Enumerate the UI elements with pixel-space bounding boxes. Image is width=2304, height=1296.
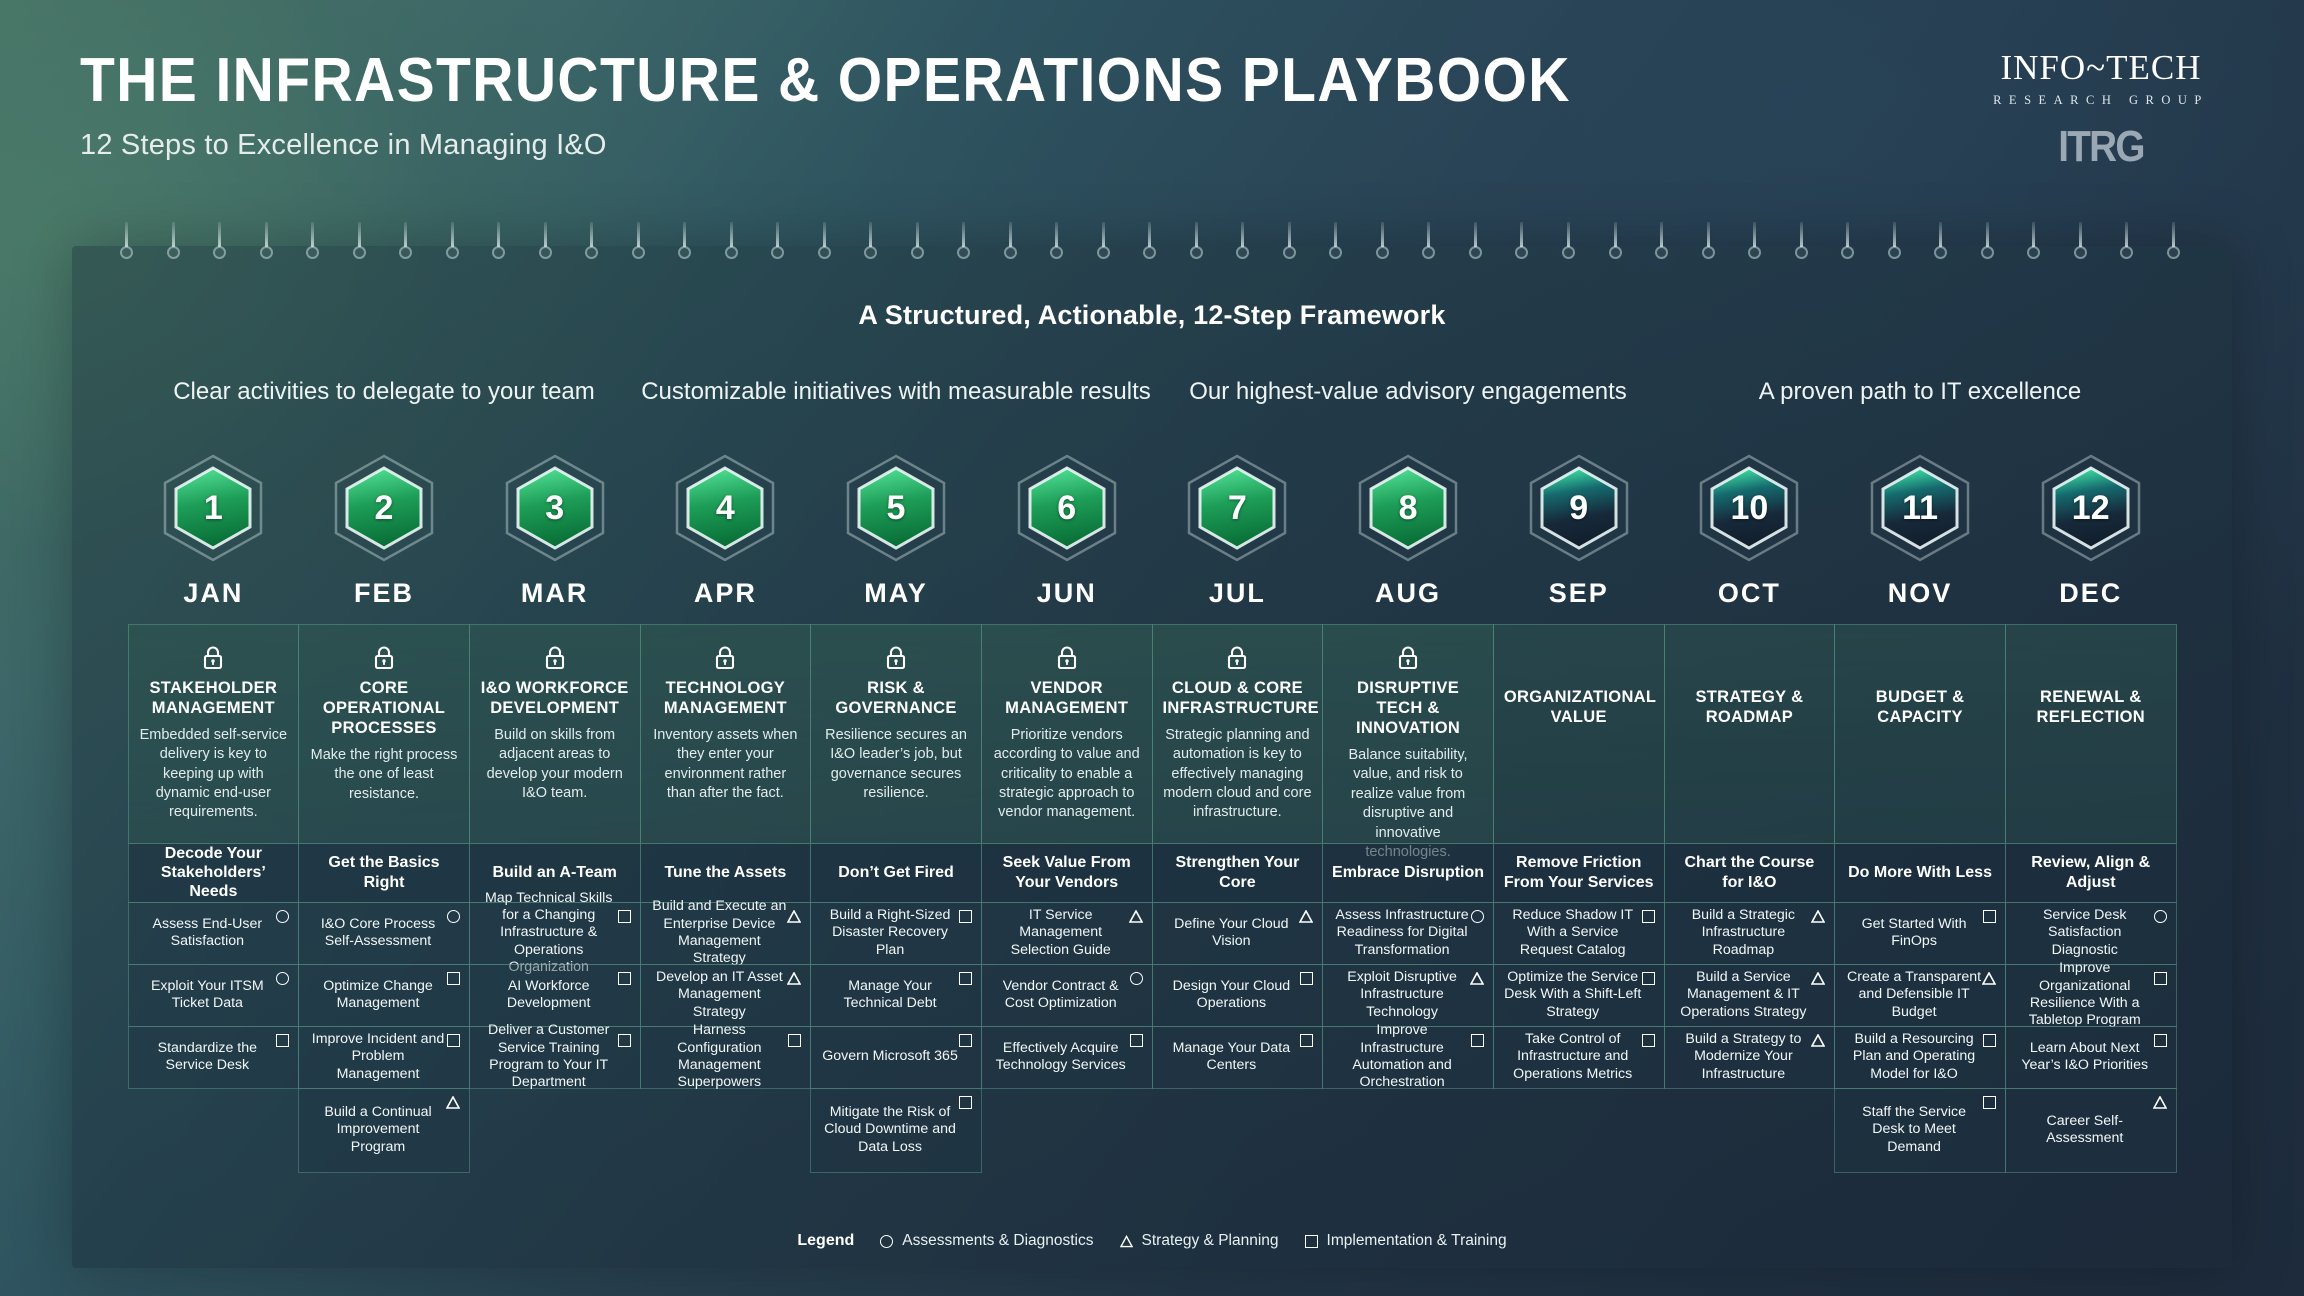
marker-square-icon — [276, 1034, 289, 1047]
month-step-nov[interactable]: 11NOV — [1835, 452, 2006, 609]
column-description: Build on skills from adjacent areas to d… — [480, 726, 630, 804]
column-title: CORE OPERATIONAL PROCESSES — [309, 678, 459, 738]
marker-square-icon — [1642, 910, 1655, 923]
column-title: BUDGET & CAPACITY — [1845, 687, 1995, 727]
playbook-item[interactable]: Govern Microsoft 365 — [810, 1026, 982, 1089]
lock-icon — [1226, 645, 1248, 670]
category-caption-1: Clear activities to delegate to your tea… — [128, 378, 640, 406]
binding-ring — [1329, 222, 1342, 270]
playbook-item-label: Optimize the Service Desk With a Shift-L… — [1504, 969, 1642, 1021]
playbook-item-label: Define Your Cloud Vision — [1163, 916, 1301, 951]
binding-ring — [1236, 222, 1249, 270]
playbook-item[interactable]: Improve Incident and Problem Management — [298, 1026, 470, 1089]
playbook-item[interactable]: Build a Right-Sized Disaster Recovery Pl… — [810, 902, 982, 965]
marker-square-icon — [1983, 1034, 1996, 1047]
step-number: 9 — [1523, 452, 1635, 564]
binding-ring — [539, 222, 552, 270]
grid-cell-empty — [1152, 1088, 1324, 1173]
binding-ring — [1609, 222, 1622, 270]
column-title: I&O WORKFORCE DEVELOPMENT — [480, 678, 630, 718]
playbook-item-label: IT Service Management Selection Guide — [992, 907, 1130, 959]
playbook-item[interactable]: Get Started With FinOps — [1834, 902, 2006, 965]
binding-ring — [1050, 222, 1063, 270]
spiral-binding — [120, 222, 2180, 270]
playbook-item-label: Manage Your Technical Debt — [821, 978, 959, 1013]
legend-item-label: Strategy & Planning — [1142, 1232, 1279, 1250]
playbook-item[interactable]: Harness Configuration Management Superpo… — [640, 1026, 812, 1089]
month-step-jun[interactable]: 6JUN — [981, 452, 1152, 609]
month-hex-row: 1JAN2FEB3MAR4APR5MAY6JUN7JUL8AUG9SEP10OC… — [128, 452, 2176, 609]
framework-heading: A Structured, Actionable, 12-Step Framew… — [0, 300, 2304, 331]
column-subtitle-text: Remove Friction From Your Services — [1502, 853, 1656, 891]
marker-triangle-icon — [1129, 910, 1143, 922]
column-subtitle-text: Review, Align & Adjust — [2014, 853, 2168, 891]
binding-ring — [678, 222, 691, 270]
hexagon-icon: 9 — [1523, 452, 1635, 564]
binding-ring — [585, 222, 598, 270]
column-title: STRATEGY & ROADMAP — [1675, 687, 1825, 727]
month-step-feb[interactable]: 2FEB — [299, 452, 470, 609]
marker-square-icon — [2154, 1034, 2167, 1047]
playbook-item[interactable]: Manage Your Technical Debt — [810, 964, 982, 1027]
column-description: Prioritize vendors according to value an… — [992, 726, 1142, 823]
playbook-item-label: Create a Transparent and Defensible IT B… — [1845, 969, 1983, 1021]
playbook-item[interactable]: Map Technical Skills for a Changing Infr… — [469, 902, 641, 965]
playbook-item[interactable]: AI Workforce Development — [469, 964, 641, 1027]
playbook-item[interactable]: Build a Strategic Infrastructure Roadmap — [1664, 902, 1836, 965]
playbook-item-label: AI Workforce Development — [480, 978, 618, 1013]
legend-item-square: Implementation & Training — [1305, 1232, 1507, 1250]
lock-icon — [885, 645, 907, 670]
column-title: STAKEHOLDER MANAGEMENT — [139, 678, 289, 718]
playbook-item-label: Reduce Shadow IT With a Service Request … — [1504, 907, 1642, 959]
playbook-item[interactable]: Take Control of Infrastructure and Opera… — [1493, 1026, 1665, 1089]
column-header-11: BUDGET & CAPACITY — [1834, 624, 2006, 844]
column-subtitle-text: Chart the Course for I&O — [1673, 853, 1827, 891]
hexagon-icon: 1 — [157, 452, 269, 564]
grid-row-items-2: Exploit Your ITSM Ticket DataOptimize Ch… — [128, 964, 2176, 1026]
playbook-item[interactable]: IT Service Management Selection Guide — [981, 902, 1153, 965]
column-subtitle-10: Chart the Course for I&O — [1664, 843, 1836, 903]
column-header-1: STAKEHOLDER MANAGEMENTEmbedded self-serv… — [128, 624, 300, 844]
marker-square-icon — [1300, 972, 1313, 985]
logo-itrg-mark: ITRG — [1991, 122, 2211, 172]
playbook-item-label: Build a Service Management & IT Operatio… — [1675, 969, 1813, 1021]
playbook-item[interactable]: Effectively Acquire Technology Services — [981, 1026, 1153, 1089]
grid-row-items-3: Standardize the Service DeskImprove Inci… — [128, 1026, 2176, 1088]
column-description: Resilience secures an I&O leader’s job, … — [821, 726, 971, 804]
playbook-item[interactable]: Optimize the Service Desk With a Shift-L… — [1493, 964, 1665, 1027]
column-subtitle-7: Strengthen Your Core — [1152, 843, 1324, 903]
step-number: 4 — [669, 452, 781, 564]
binding-ring — [306, 222, 319, 270]
playbook-item-label: Build a Right-Sized Disaster Recovery Pl… — [821, 907, 959, 959]
logo-wordmark: INFO~TECH — [1976, 48, 2226, 88]
playbook-item[interactable]: Define Your Cloud Vision — [1152, 902, 1324, 965]
column-subtitle-6: Seek Value From Your Vendors — [981, 843, 1153, 903]
month-step-jan[interactable]: 1JAN — [128, 452, 299, 609]
grid-cell-empty — [640, 1088, 812, 1173]
column-header-2: CORE OPERATIONAL PROCESSESMake the right… — [298, 624, 470, 844]
grid-cell-empty — [981, 1088, 1153, 1173]
month-step-jul[interactable]: 7JUL — [1152, 452, 1323, 609]
playbook-item[interactable]: Improve Organizational Resilience With a… — [2005, 964, 2177, 1027]
playbook-item[interactable]: Manage Your Data Centers — [1152, 1026, 1324, 1089]
page-subtitle: 12 Steps to Excellence in Managing I&O — [80, 129, 1700, 162]
binding-ring — [1469, 222, 1482, 270]
column-subtitle-5: Don’t Get Fired — [810, 843, 982, 903]
lock-icon — [202, 645, 224, 670]
month-step-aug[interactable]: 8AUG — [1323, 452, 1494, 609]
playbook-item-label: Improve Organizational Resilience With a… — [2016, 960, 2154, 1029]
column-header-9: ORGANIZATIONAL VALUE — [1493, 624, 1665, 844]
category-caption-2: Customizable initiatives with measurable… — [640, 378, 1152, 406]
month-label: JUN — [981, 578, 1152, 609]
column-subtitle-8: Embrace Disruption — [1322, 843, 1494, 903]
logo-tagline: RESEARCH GROUP — [1976, 93, 2226, 108]
binding-ring — [1190, 222, 1203, 270]
playbook-item-label: Mitigate the Risk of Cloud Downtime and … — [821, 1104, 959, 1156]
binding-ring — [1748, 222, 1761, 270]
playbook-item[interactable]: Build a Strategy to Modernize Your Infra… — [1664, 1026, 1836, 1089]
column-header-3: I&O WORKFORCE DEVELOPMENTBuild on skills… — [469, 624, 641, 844]
binding-ring — [1934, 222, 1947, 270]
column-description: Embedded self-service delivery is key to… — [139, 726, 289, 823]
marker-square-icon — [1130, 1034, 1143, 1047]
binding-ring — [725, 222, 738, 270]
playbook-item[interactable]: Career Self-Assessment — [2005, 1088, 2177, 1173]
playbook-item[interactable]: Improve Infrastructure Automation and Or… — [1322, 1026, 1494, 1089]
column-subtitle-text: Build an A-Team — [492, 863, 616, 882]
binding-ring — [1795, 222, 1808, 270]
legend-label: Legend — [797, 1232, 854, 1250]
month-step-dec[interactable]: 12DEC — [2005, 452, 2176, 609]
column-subtitle-text: Strengthen Your Core — [1161, 853, 1315, 891]
column-subtitle-4: Tune the Assets — [640, 843, 812, 903]
step-number: 10 — [1693, 452, 1805, 564]
playbook-item[interactable]: Staff the Service Desk to Meet Demand — [1834, 1088, 2006, 1173]
playbook-item-label: Standardize the Service Desk — [139, 1040, 277, 1075]
grid-cell-empty — [1322, 1088, 1494, 1173]
category-caption-4: A proven path to IT excellence — [1664, 378, 2176, 406]
lock-icon — [373, 645, 395, 670]
playbook-item[interactable]: Create a Transparent and Defensible IT B… — [1834, 964, 2006, 1027]
binding-ring — [446, 222, 459, 270]
marker-square-icon — [618, 972, 631, 985]
column-subtitle-2: Get the Basics Right — [298, 843, 470, 903]
column-subtitle-9: Remove Friction From Your Services — [1493, 843, 1665, 903]
playbook-item-label: Build a Strategy to Modernize Your Infra… — [1675, 1031, 1813, 1083]
binding-ring — [1655, 222, 1668, 270]
marker-square-icon — [788, 1034, 801, 1047]
column-subtitle-text: Embrace Disruption — [1332, 863, 1484, 882]
marker-square-icon — [1642, 1034, 1655, 1047]
month-step-mar[interactable]: 3MAR — [469, 452, 640, 609]
column-subtitle-text: Seek Value From Your Vendors — [990, 853, 1144, 891]
marker-square-icon — [959, 1034, 972, 1047]
playbook-item-label: Get Started With FinOps — [1845, 916, 1983, 951]
column-title: RISK & GOVERNANCE — [821, 678, 971, 718]
binding-ring — [492, 222, 505, 270]
step-number: 12 — [2035, 452, 2147, 564]
column-subtitle-text: Do More With Less — [1848, 863, 1992, 882]
step-number: 6 — [1011, 452, 1123, 564]
playbook-item-label: Manage Your Data Centers — [1163, 1040, 1301, 1075]
month-label: FEB — [299, 578, 470, 609]
binding-ring — [911, 222, 924, 270]
marker-square-icon — [618, 1034, 631, 1047]
marker-triangle-icon — [1982, 972, 1996, 984]
playbook-item[interactable]: Optimize Change Management — [298, 964, 470, 1027]
playbook-item[interactable]: Service Desk Satisfaction Diagnostic — [2005, 902, 2177, 965]
month-label: MAR — [469, 578, 640, 609]
grid-row-items-4: Build a Continual Improvement ProgramMit… — [128, 1088, 2176, 1172]
binding-ring — [957, 222, 970, 270]
column-header-8: DISRUPTIVE TECH & INNOVATIONBalance suit… — [1322, 624, 1494, 844]
marker-circle-icon — [1130, 972, 1143, 985]
playbook-item[interactable]: Develop an IT Asset Management Strategy — [640, 964, 812, 1027]
marker-triangle-icon — [2153, 1096, 2167, 1108]
binding-ring — [771, 222, 784, 270]
binding-ring — [2120, 222, 2133, 270]
hexagon-icon: 8 — [1352, 452, 1464, 564]
column-title: ORGANIZATIONAL VALUE — [1504, 687, 1654, 727]
playbook-item-label: Assess End-User Satisfaction — [139, 916, 277, 951]
marker-square-icon — [959, 910, 972, 923]
legend-item-triangle: Strategy & Planning — [1120, 1232, 1279, 1250]
step-number: 7 — [1181, 452, 1293, 564]
playbook-item-label: Exploit Your ITSM Ticket Data — [139, 978, 277, 1013]
month-label: JAN — [128, 578, 299, 609]
playbook-item-label: I&O Core Process Self-Assessment — [309, 916, 447, 951]
step-number: 3 — [499, 452, 611, 564]
column-header-7: CLOUD & CORE INFRASTRUCTUREStrategic pla… — [1152, 624, 1324, 844]
hexagon-icon: 5 — [840, 452, 952, 564]
playbook-grid: STAKEHOLDER MANAGEMENTEmbedded self-serv… — [128, 624, 2176, 1172]
binding-ring — [2027, 222, 2040, 270]
marker-square-icon — [1642, 972, 1655, 985]
playbook-item-label: Service Desk Satisfaction Diagnostic — [2016, 907, 2154, 959]
playbook-item-label: Govern Microsoft 365 — [822, 1048, 958, 1065]
playbook-item-label: Develop an IT Asset Management Strategy — [651, 969, 789, 1021]
month-label: AUG — [1323, 578, 1494, 609]
binding-ring — [1143, 222, 1156, 270]
category-caption-row: Clear activities to delegate to your tea… — [128, 378, 2176, 406]
lock-icon — [544, 645, 566, 670]
column-subtitle-text: Get the Basics Right — [307, 853, 461, 891]
playbook-item[interactable]: Exploit Disruptive Infrastructure Techno… — [1322, 964, 1494, 1027]
marker-circle-icon — [276, 972, 289, 985]
column-subtitle-1: Decode Your Stakeholders’ Needs — [128, 843, 300, 903]
column-header-10: STRATEGY & ROADMAP — [1664, 624, 1836, 844]
grid-cell-empty — [128, 1088, 300, 1173]
month-step-apr[interactable]: 4APR — [640, 452, 811, 609]
playbook-item[interactable]: Build a Continual Improvement Program — [298, 1088, 470, 1173]
playbook-item-label: Optimize Change Management — [309, 978, 447, 1013]
binding-ring — [260, 222, 273, 270]
grid-row-subtitles: Decode Your Stakeholders’ NeedsGet the B… — [128, 843, 2176, 902]
marker-circle-icon — [276, 910, 289, 923]
legend: Legend Assessments & DiagnosticsStrategy… — [0, 1232, 2304, 1250]
playbook-item-label: Improve Infrastructure Automation and Or… — [1333, 1022, 1471, 1091]
playbook-item-label: Build a Strategic Infrastructure Roadmap — [1675, 907, 1813, 959]
month-step-oct[interactable]: 10OCT — [1664, 452, 1835, 609]
marker-triangle-icon — [1811, 1034, 1825, 1046]
legend-triangle-icon — [1120, 1235, 1133, 1248]
grid-row-items-1: Assess End-User SatisfactionI&O Core Pro… — [128, 902, 2176, 964]
legend-item-label: Implementation & Training — [1327, 1232, 1507, 1250]
lock-icon — [714, 645, 736, 670]
hexagon-icon: 3 — [499, 452, 611, 564]
playbook-item[interactable]: Build a Service Management & IT Operatio… — [1664, 964, 1836, 1027]
playbook-item-label: Staff the Service Desk to Meet Demand — [1845, 1104, 1983, 1156]
marker-square-icon — [447, 1034, 460, 1047]
column-title: CLOUD & CORE INFRASTRUCTURE — [1163, 678, 1313, 718]
marker-square-icon — [2154, 972, 2167, 985]
hexagon-icon: 11 — [1864, 452, 1976, 564]
legend-item-label: Assessments & Diagnostics — [902, 1232, 1093, 1250]
playbook-item-label: Build a Resourcing Plan and Operating Mo… — [1845, 1031, 1983, 1083]
column-title: DISRUPTIVE TECH & INNOVATION — [1333, 678, 1483, 738]
binding-ring — [167, 222, 180, 270]
marker-square-icon — [1983, 1096, 1996, 1109]
brand-logo: INFO~TECH RESEARCH GROUP ITRG — [1976, 48, 2226, 172]
step-number: 5 — [840, 452, 952, 564]
column-description: Make the right process the one of least … — [309, 746, 459, 804]
playbook-item-label: Build and Execute an Enterprise Device M… — [651, 898, 789, 967]
playbook-item[interactable]: Exploit Your ITSM Ticket Data — [128, 964, 300, 1027]
playbook-item[interactable]: Assess End-User Satisfaction — [128, 902, 300, 965]
playbook-item[interactable]: Mitigate the Risk of Cloud Downtime and … — [810, 1088, 982, 1173]
legend-circle-icon — [880, 1235, 893, 1248]
binding-ring — [399, 222, 412, 270]
playbook-item[interactable]: Reduce Shadow IT With a Service Request … — [1493, 902, 1665, 965]
playbook-item[interactable]: Build a Resourcing Plan and Operating Mo… — [1834, 1026, 2006, 1089]
binding-ring — [1422, 222, 1435, 270]
binding-ring — [818, 222, 831, 270]
month-label: NOV — [1835, 578, 2006, 609]
column-header-12: RENEWAL & REFLECTION — [2005, 624, 2177, 844]
playbook-item-label: Effectively Acquire Technology Services — [992, 1040, 1130, 1075]
playbook-item-label: Design Your Cloud Operations — [1163, 978, 1301, 1013]
step-number: 2 — [328, 452, 440, 564]
infographic-root: THE INFRASTRUCTURE & OPERATIONS PLAYBOOK… — [0, 0, 2304, 1296]
column-description: Strategic planning and automation is key… — [1163, 726, 1313, 823]
marker-square-icon — [959, 1096, 972, 1109]
playbook-item-label: Career Self-Assessment — [2016, 1113, 2154, 1148]
marker-circle-icon — [447, 910, 460, 923]
binding-ring — [1283, 222, 1296, 270]
marker-triangle-icon — [787, 910, 801, 922]
column-title: TECHNOLOGY MANAGEMENT — [651, 678, 801, 718]
binding-ring — [864, 222, 877, 270]
marker-square-icon — [1983, 910, 1996, 923]
step-number: 1 — [157, 452, 269, 564]
playbook-item-label: Harness Configuration Management Superpo… — [651, 1022, 789, 1091]
column-subtitle-text: Decode Your Stakeholders’ Needs — [137, 844, 291, 902]
binding-ring — [1515, 222, 1528, 270]
page-title: THE INFRASTRUCTURE & OPERATIONS PLAYBOOK — [80, 48, 1571, 113]
category-caption-3: Our highest-value advisory engagements — [1152, 378, 1664, 406]
playbook-item[interactable]: Design Your Cloud Operations — [1152, 964, 1324, 1027]
binding-ring — [1004, 222, 1017, 270]
lock-icon — [1397, 645, 1419, 670]
month-label: MAY — [811, 578, 982, 609]
playbook-item-label: Learn About Next Year’s I&O Priorities — [2016, 1040, 2154, 1075]
column-header-5: RISK & GOVERNANCEResilience secures an I… — [810, 624, 982, 844]
binding-ring — [2167, 222, 2180, 270]
binding-ring — [2074, 222, 2087, 270]
month-label: JUL — [1152, 578, 1323, 609]
hexagon-icon: 2 — [328, 452, 440, 564]
marker-circle-icon — [1471, 910, 1484, 923]
column-subtitle-12: Review, Align & Adjust — [2005, 843, 2177, 903]
binding-ring — [213, 222, 226, 270]
marker-square-icon — [618, 910, 631, 923]
column-title: VENDOR MANAGEMENT — [992, 678, 1142, 718]
column-title: RENEWAL & REFLECTION — [2016, 687, 2166, 727]
hexagon-icon: 7 — [1181, 452, 1293, 564]
column-subtitle-text: Don’t Get Fired — [838, 863, 954, 882]
legend-square-icon — [1305, 1235, 1318, 1248]
month-step-may[interactable]: 5MAY — [811, 452, 982, 609]
marker-triangle-icon — [787, 972, 801, 984]
marker-triangle-icon — [1470, 972, 1484, 984]
header-block: THE INFRASTRUCTURE & OPERATIONS PLAYBOOK… — [80, 48, 1700, 162]
hexagon-icon: 12 — [2035, 452, 2147, 564]
step-number: 11 — [1864, 452, 1976, 564]
playbook-item[interactable]: I&O Core Process Self-Assessment — [298, 902, 470, 965]
month-label: APR — [640, 578, 811, 609]
marker-triangle-icon — [446, 1096, 460, 1108]
marker-triangle-icon — [1811, 910, 1825, 922]
column-header-6: VENDOR MANAGEMENTPrioritize vendors acco… — [981, 624, 1153, 844]
binding-ring — [632, 222, 645, 270]
playbook-item-label: Improve Incident and Problem Management — [309, 1031, 447, 1083]
marker-triangle-icon — [1299, 910, 1313, 922]
playbook-item[interactable]: Vendor Contract & Cost Optimization — [981, 964, 1153, 1027]
marker-square-icon — [1300, 1034, 1313, 1047]
playbook-item-label: Assess Infrastructure Readiness for Digi… — [1333, 907, 1471, 959]
playbook-item[interactable]: Deliver a Customer Service Training Prog… — [469, 1026, 641, 1089]
marker-square-icon — [447, 972, 460, 985]
binding-ring — [1841, 222, 1854, 270]
playbook-item-label: Deliver a Customer Service Training Prog… — [480, 1022, 618, 1091]
hexagon-icon: 10 — [1693, 452, 1805, 564]
binding-ring — [1981, 222, 1994, 270]
playbook-item[interactable]: Build and Execute an Enterprise Device M… — [640, 902, 812, 965]
marker-square-icon — [1471, 1034, 1484, 1047]
binding-ring — [1097, 222, 1110, 270]
hexagon-icon: 6 — [1011, 452, 1123, 564]
grid-row-headers: STAKEHOLDER MANAGEMENTEmbedded self-serv… — [128, 624, 2176, 843]
playbook-item[interactable]: Assess Infrastructure Readiness for Digi… — [1322, 902, 1494, 965]
grid-cell-empty — [1493, 1088, 1665, 1173]
lock-icon — [1056, 645, 1078, 670]
binding-ring — [1702, 222, 1715, 270]
month-step-sep[interactable]: 9SEP — [1493, 452, 1664, 609]
binding-ring — [353, 222, 366, 270]
playbook-item[interactable]: Learn About Next Year’s I&O Priorities — [2005, 1026, 2177, 1089]
playbook-item-label: Vendor Contract & Cost Optimization — [992, 978, 1130, 1013]
playbook-item-label: Exploit Disruptive Infrastructure Techno… — [1333, 969, 1471, 1021]
step-number: 8 — [1352, 452, 1464, 564]
month-label: SEP — [1493, 578, 1664, 609]
hexagon-icon: 4 — [669, 452, 781, 564]
playbook-item[interactable]: Standardize the Service Desk — [128, 1026, 300, 1089]
legend-item-circle: Assessments & Diagnostics — [880, 1232, 1093, 1250]
binding-ring — [1376, 222, 1389, 270]
